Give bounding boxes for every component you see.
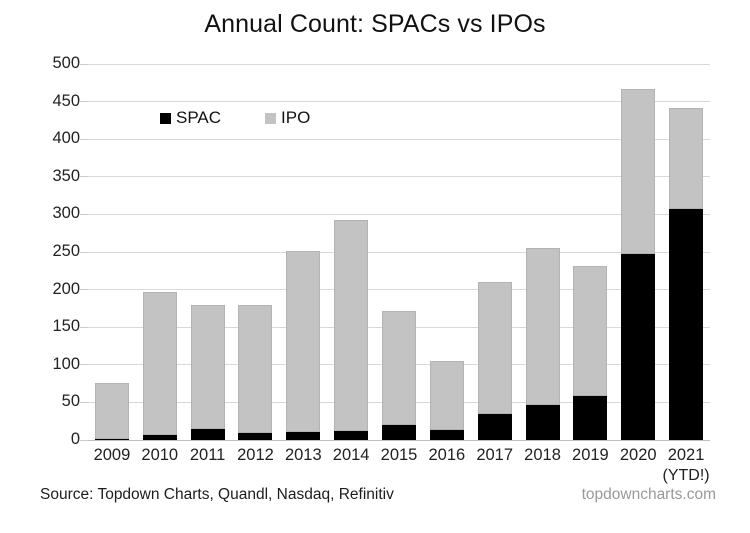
square-black-icon <box>160 113 171 124</box>
bar-segment-ipo[interactable] <box>143 292 177 435</box>
y-axis-tick-mark <box>80 176 88 177</box>
legend-label: IPO <box>281 108 310 128</box>
bar-group[interactable] <box>573 64 607 440</box>
bar-group[interactable] <box>382 64 416 440</box>
bar-segment-spac[interactable] <box>382 425 416 440</box>
y-axis-tick-mark <box>80 139 88 140</box>
y-axis-tick-mark <box>80 252 88 253</box>
footer-source-text: Source: Topdown Charts, Quandl, Nasdaq, … <box>40 486 394 504</box>
bar-group[interactable] <box>430 64 464 440</box>
legend-item-ipo[interactable]: IPO <box>265 108 310 128</box>
y-axis-tick-label: 250 <box>18 243 80 260</box>
y-axis-tick-mark <box>80 327 88 328</box>
bar-segment-spac[interactable] <box>286 432 320 440</box>
bar-group[interactable] <box>526 64 560 440</box>
bar-segment-spac[interactable] <box>669 209 703 440</box>
y-axis-tick-label: 200 <box>18 281 80 298</box>
bar-segment-ipo[interactable] <box>573 266 607 395</box>
bar-group[interactable] <box>621 64 655 440</box>
y-axis-tick-mark <box>80 402 88 403</box>
y-axis-tick-mark <box>80 364 88 365</box>
bar-segment-spac[interactable] <box>573 396 607 440</box>
y-axis-tick-mark <box>80 64 88 65</box>
y-axis-tick-label: 400 <box>18 130 80 147</box>
bar-segment-ipo[interactable] <box>286 251 320 433</box>
y-axis-tick-label: 150 <box>18 318 80 335</box>
y-axis-tick-mark <box>80 440 88 441</box>
bar-segment-spac[interactable] <box>238 433 272 440</box>
bar-segment-ipo[interactable] <box>669 108 703 210</box>
footer-site-text: topdowncharts.com <box>582 486 716 504</box>
bar-segment-spac[interactable] <box>334 431 368 440</box>
y-axis-tick-label: 300 <box>18 205 80 222</box>
legend-item-spac[interactable]: SPAC <box>160 108 221 128</box>
chart-title: Annual Count: SPACs vs IPOs <box>0 10 750 39</box>
y-axis-tick-mark <box>80 289 88 290</box>
y-axis-tick-label: 350 <box>18 168 80 185</box>
bar-segment-ipo[interactable] <box>95 383 129 439</box>
bar-segment-spac[interactable] <box>430 430 464 440</box>
bar-segment-spac[interactable] <box>621 254 655 440</box>
bar-group[interactable] <box>478 64 512 440</box>
y-axis-tick-label: 50 <box>18 393 80 410</box>
bar-segment-ipo[interactable] <box>382 311 416 425</box>
y-axis: 050100150200250300350400450500 <box>8 64 80 440</box>
y-axis-tick-mark <box>80 101 88 102</box>
bar-segment-spac[interactable] <box>526 405 560 440</box>
bar-segment-ipo[interactable] <box>621 89 655 254</box>
bar-segment-ipo[interactable] <box>334 220 368 431</box>
bar-segment-spac[interactable] <box>191 429 225 440</box>
x-axis-tick-label: 2021(YTD!) <box>658 446 714 485</box>
bar-segment-ipo[interactable] <box>526 248 560 405</box>
bar-segment-ipo[interactable] <box>238 305 272 433</box>
square-gray-icon <box>265 113 276 124</box>
bar-group[interactable] <box>334 64 368 440</box>
bar-segment-spac[interactable] <box>478 414 512 440</box>
bar-group[interactable] <box>669 64 703 440</box>
bar-segment-spac[interactable] <box>143 435 177 440</box>
y-axis-tick-label: 450 <box>18 93 80 110</box>
y-axis-tick-mark <box>80 214 88 215</box>
bar-segment-ipo[interactable] <box>191 305 225 429</box>
bar-segment-ipo[interactable] <box>478 282 512 414</box>
bar-segment-ipo[interactable] <box>430 361 464 430</box>
y-axis-tick-label: 0 <box>18 431 80 448</box>
bar-group[interactable] <box>95 64 129 440</box>
chart-legend: SPACIPO <box>160 108 310 128</box>
x-axis-tick-sublabel: (YTD!) <box>658 466 714 485</box>
bar-segment-spac[interactable] <box>95 439 129 440</box>
chart-container: Annual Count: SPACs vs IPOs 050100150200… <box>0 0 750 533</box>
y-axis-tick-label: 100 <box>18 356 80 373</box>
legend-label: SPAC <box>176 108 221 128</box>
y-axis-tick-label: 500 <box>18 55 80 72</box>
